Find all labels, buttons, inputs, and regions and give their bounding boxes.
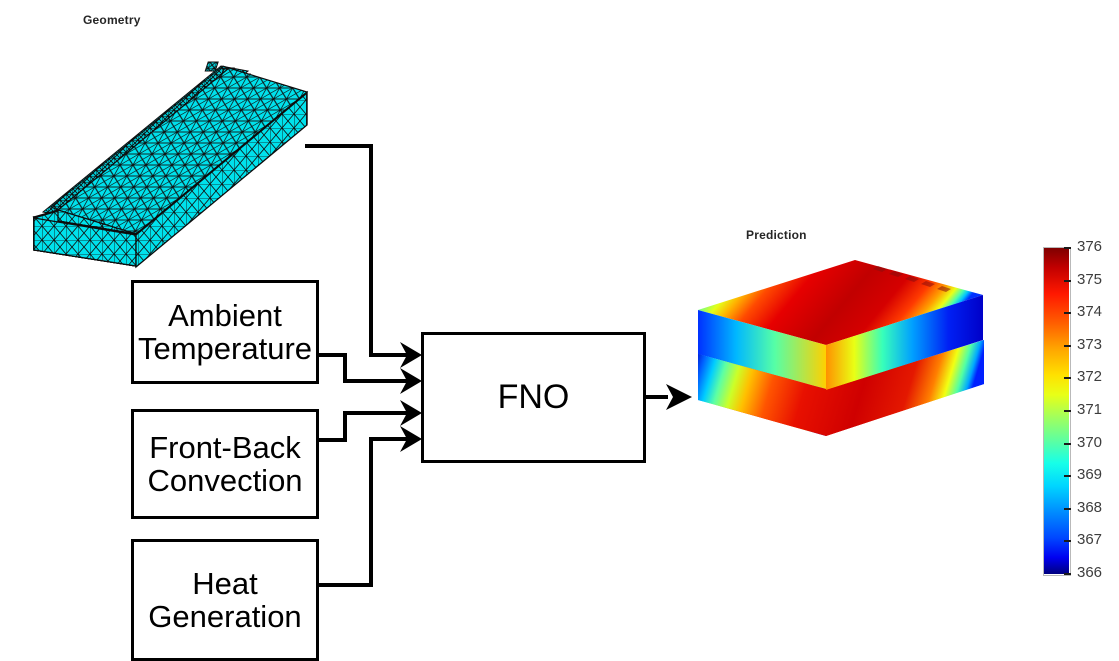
colorbar-tick-label: 366 [1077, 565, 1102, 580]
colorbar-tick-mark [1064, 345, 1071, 347]
diagram-canvas: Geometry [0, 0, 1119, 661]
colorbar-tick-label: 371 [1077, 402, 1102, 417]
input-box-ambient-temperature[interactable]: Ambient Temperature [131, 280, 319, 384]
colorbar-tick-mark [1064, 247, 1071, 249]
colorbar-tick-label: 373 [1077, 337, 1102, 352]
arrowheads-into-fno [400, 342, 422, 452]
arrowhead-geometry [400, 342, 422, 368]
colorbar-tick-label: 375 [1077, 272, 1102, 287]
colorbar-tick-label: 376 [1077, 239, 1102, 254]
geometry-panel-title: Geometry [83, 13, 141, 27]
colorbar: 376375374373372371370369368367366 [1040, 244, 1119, 580]
arrowhead-convection [400, 400, 422, 426]
wire-heatgen-to-fno [319, 439, 410, 585]
colorbar-tick-label: 374 [1077, 304, 1102, 319]
prediction-heatmap-figure [682, 250, 994, 446]
colorbar-tick-mark [1064, 540, 1071, 542]
colorbar-tick-mark [1064, 377, 1071, 379]
wire-ambient-to-fno [319, 355, 410, 381]
arrowhead-ambient [400, 368, 422, 394]
arrowhead-heatgen [400, 426, 422, 452]
wire-convection-to-fno [319, 413, 410, 440]
prediction-panel-title: Prediction [746, 228, 807, 242]
colorbar-tick-mark [1064, 280, 1071, 282]
colorbar-tick-mark [1064, 410, 1071, 412]
input-box-front-back-convection[interactable]: Front-Back Convection [131, 409, 319, 519]
input-box-heat-generation[interactable]: Heat Generation [131, 539, 319, 661]
colorbar-tick-label: 368 [1077, 500, 1102, 515]
colorbar-tick-label: 367 [1077, 532, 1102, 547]
colorbar-tick-mark [1064, 443, 1071, 445]
colorbar-tick-label: 372 [1077, 369, 1102, 384]
colorbar-tick-mark [1064, 475, 1071, 477]
input-box-heat-generation-label: Heat Generation [148, 567, 301, 634]
geometry-mesh-figure [18, 44, 318, 272]
input-box-ambient-temperature-label: Ambient Temperature [138, 299, 312, 366]
model-box-fno-label: FNO [498, 379, 570, 416]
colorbar-tick-mark [1064, 508, 1071, 510]
model-box-fno[interactable]: FNO [421, 332, 646, 463]
wire-geometry-to-fno [305, 146, 410, 355]
input-box-front-back-convection-label: Front-Back Convection [147, 431, 302, 498]
colorbar-tick-mark [1064, 312, 1071, 314]
colorbar-tick-mark [1064, 573, 1071, 575]
colorbar-tick-label: 370 [1077, 435, 1102, 450]
colorbar-tick-label: 369 [1077, 467, 1102, 482]
